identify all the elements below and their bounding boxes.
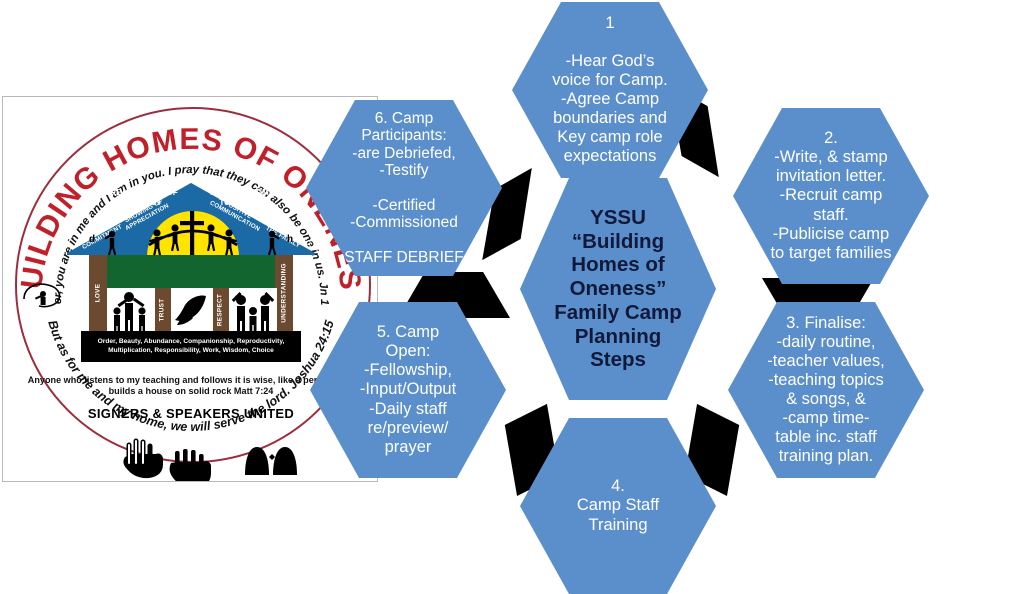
logo-panel: BUILDING HOMES OF ONENESS Father, you ar… <box>2 96 378 482</box>
pillar-understanding: UNDERSTANDING <box>275 255 293 331</box>
signing-hands-right-icon <box>163 449 229 482</box>
family-pictogram-left-icon <box>107 288 155 333</box>
hex-center-label: YSSU “Building Homes of Oneness” Family … <box>520 206 716 372</box>
hex-center[interactable]: YSSU “Building Homes of Oneness” Family … <box>520 178 716 400</box>
pillar-love: LOVE <box>89 255 107 331</box>
family-pictogram-right-icon <box>229 288 277 333</box>
hex-step-1-label: 1 -Hear God’s voice for Camp. -Agree Cam… <box>512 14 708 167</box>
org-name: SIGNERS & SPEAKERS UNITED <box>23 407 359 421</box>
hex-step-2[interactable]: 2. -Write, & stamp invitation letter. -R… <box>733 108 929 284</box>
hex-step-2-label: 2. -Write, & stamp invitation letter. -R… <box>733 129 929 263</box>
hex-step-3[interactable]: 3. Finalise: -daily routine, -teacher va… <box>728 302 924 478</box>
swirl-mark-icon <box>21 281 63 311</box>
pillar-trust: TRUST <box>153 288 171 331</box>
hex-step-3-label: 3. Finalise: -daily routine, -teacher va… <box>728 314 924 467</box>
hex-step-1[interactable]: 1 -Hear God’s voice for Camp. -Agree Cam… <box>512 2 708 178</box>
slide-canvas: BUILDING HOMES OF ONENESS Father, you ar… <box>0 0 1024 576</box>
pillar-respect-label: RESPECT <box>217 293 224 325</box>
green-band-creative-use-of-conflict: CREATIVE USE OF CONFLICT <box>91 181 191 214</box>
green-band-spending-time-together: SPENDING TIME TOGETHER <box>193 181 291 214</box>
green-band <box>89 255 293 288</box>
hex-step-4-label: 4. Camp Staff Training <box>520 477 716 534</box>
hex-step-5-label: 5. Camp Open: -Fellowship, -Input/Output… <box>310 323 506 457</box>
matt-724-text: Anyone who listens to my teaching and fo… <box>23 375 359 398</box>
sign-letter-d: d <box>89 234 95 245</box>
signing-figure-left-icon <box>95 229 123 255</box>
house-graphic: SPIRITUAL COMMITMENT SHOWING OF APPRECIA… <box>65 181 317 371</box>
pillar-understanding-label: UNDERSTANDING <box>281 263 288 323</box>
two-heads-silhouette-icon <box>239 433 301 475</box>
foundation-text: Order, Beauty, Abundance, Companionship,… <box>81 331 301 362</box>
pillar-respect: RESPECT <box>211 288 229 331</box>
signing-figure-right-icon <box>261 229 289 255</box>
pillar-love-label: LOVE <box>95 284 102 303</box>
dove-pictogram-icon <box>171 288 213 333</box>
sign-letter-h: h <box>287 234 293 245</box>
pillar-trust-label: TRUST <box>159 298 166 321</box>
